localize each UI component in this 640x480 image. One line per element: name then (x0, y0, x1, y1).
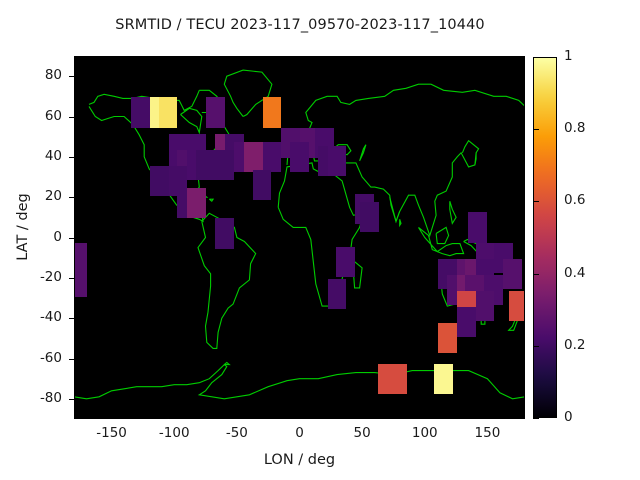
heatmap-cell (328, 146, 347, 176)
x-tick-label: 0 (265, 425, 335, 441)
heatmap-cell (131, 97, 150, 127)
heatmap-cell (215, 150, 234, 180)
y-tick (69, 399, 74, 400)
heatmap-cell (74, 267, 87, 297)
heatmap-cell (215, 218, 234, 248)
x-tick (487, 414, 488, 419)
y-tick-label: 20 (0, 188, 62, 204)
y-tick (69, 318, 74, 319)
chart-title: SRMTID / TECU 2023-117_09570-2023-117_10… (0, 17, 600, 33)
colorbar-tick-label: 1 (564, 48, 614, 64)
heatmap-cell (150, 166, 169, 196)
colorbar-gradient (534, 58, 556, 417)
x-tick (237, 414, 238, 419)
colorbar-tick (533, 346, 539, 347)
figure-canvas: SRMTID / TECU 2023-117_09570-2023-117_10… (0, 0, 640, 480)
x-tick-label: 100 (390, 425, 460, 441)
heatmap-cell (336, 247, 355, 277)
heatmap-cell (434, 364, 453, 394)
heatmap-cell (263, 97, 282, 127)
y-tick-label: 80 (0, 67, 62, 83)
y-tick-label: 40 (0, 148, 62, 164)
heatmap-cell (438, 323, 457, 353)
y-tick-label: -80 (0, 390, 62, 406)
colorbar-tick (533, 57, 539, 58)
x-tick-label: -50 (202, 425, 272, 441)
heatmap-cell (476, 291, 495, 321)
y-tick (69, 197, 74, 198)
heatmap-cell (206, 97, 225, 127)
heatmap-cell (503, 259, 522, 289)
y-tick (69, 157, 74, 158)
heatmap-cell (509, 291, 525, 321)
colorbar-tick-label: 0.6 (564, 192, 614, 208)
colorbar-tick (533, 129, 539, 130)
colorbar-tick-label: 0.4 (564, 265, 614, 281)
x-tick-label: -100 (139, 425, 209, 441)
y-tick-label: 60 (0, 108, 62, 124)
heatmap-cell (253, 170, 272, 200)
y-tick (69, 238, 74, 239)
y-tick (69, 117, 74, 118)
heatmap-cell (187, 188, 206, 218)
x-tick-label: 50 (327, 425, 397, 441)
x-tick-label: 150 (452, 425, 522, 441)
heatmap-cell-layer (74, 56, 525, 419)
y-tick (69, 76, 74, 77)
y-tick (69, 278, 74, 279)
colorbar-tick (533, 418, 539, 419)
heatmap-cell (290, 142, 309, 172)
x-tick (362, 414, 363, 419)
colorbar-tick (533, 274, 539, 275)
colorbar-tick-label: 0.2 (564, 337, 614, 353)
colorbar-tick-label: 0 (564, 409, 614, 425)
x-tick (425, 414, 426, 419)
heatmap-cell (159, 97, 178, 127)
x-tick-label: -150 (77, 425, 147, 441)
colorbar-tick-label: 0.8 (564, 120, 614, 136)
x-axis-label: LON / deg (74, 452, 525, 468)
heatmap-cell (388, 364, 407, 394)
heatmap-cell (244, 142, 263, 172)
colorbar-tick (533, 201, 539, 202)
colorbar (533, 57, 557, 418)
y-tick-label: -60 (0, 350, 62, 366)
heatmap-cell (457, 307, 476, 337)
x-tick (174, 414, 175, 419)
heatmap-cell (263, 142, 282, 172)
heatmap-cell (360, 202, 379, 232)
y-tick-label: 0 (0, 229, 62, 245)
map-plot-area (74, 56, 525, 419)
y-tick-label: -20 (0, 269, 62, 285)
heatmap-cell (196, 150, 215, 180)
x-tick (112, 414, 113, 419)
x-tick (300, 414, 301, 419)
heatmap-cell (468, 212, 487, 242)
y-tick (69, 359, 74, 360)
heatmap-cell (328, 279, 347, 309)
y-tick-label: -40 (0, 309, 62, 325)
